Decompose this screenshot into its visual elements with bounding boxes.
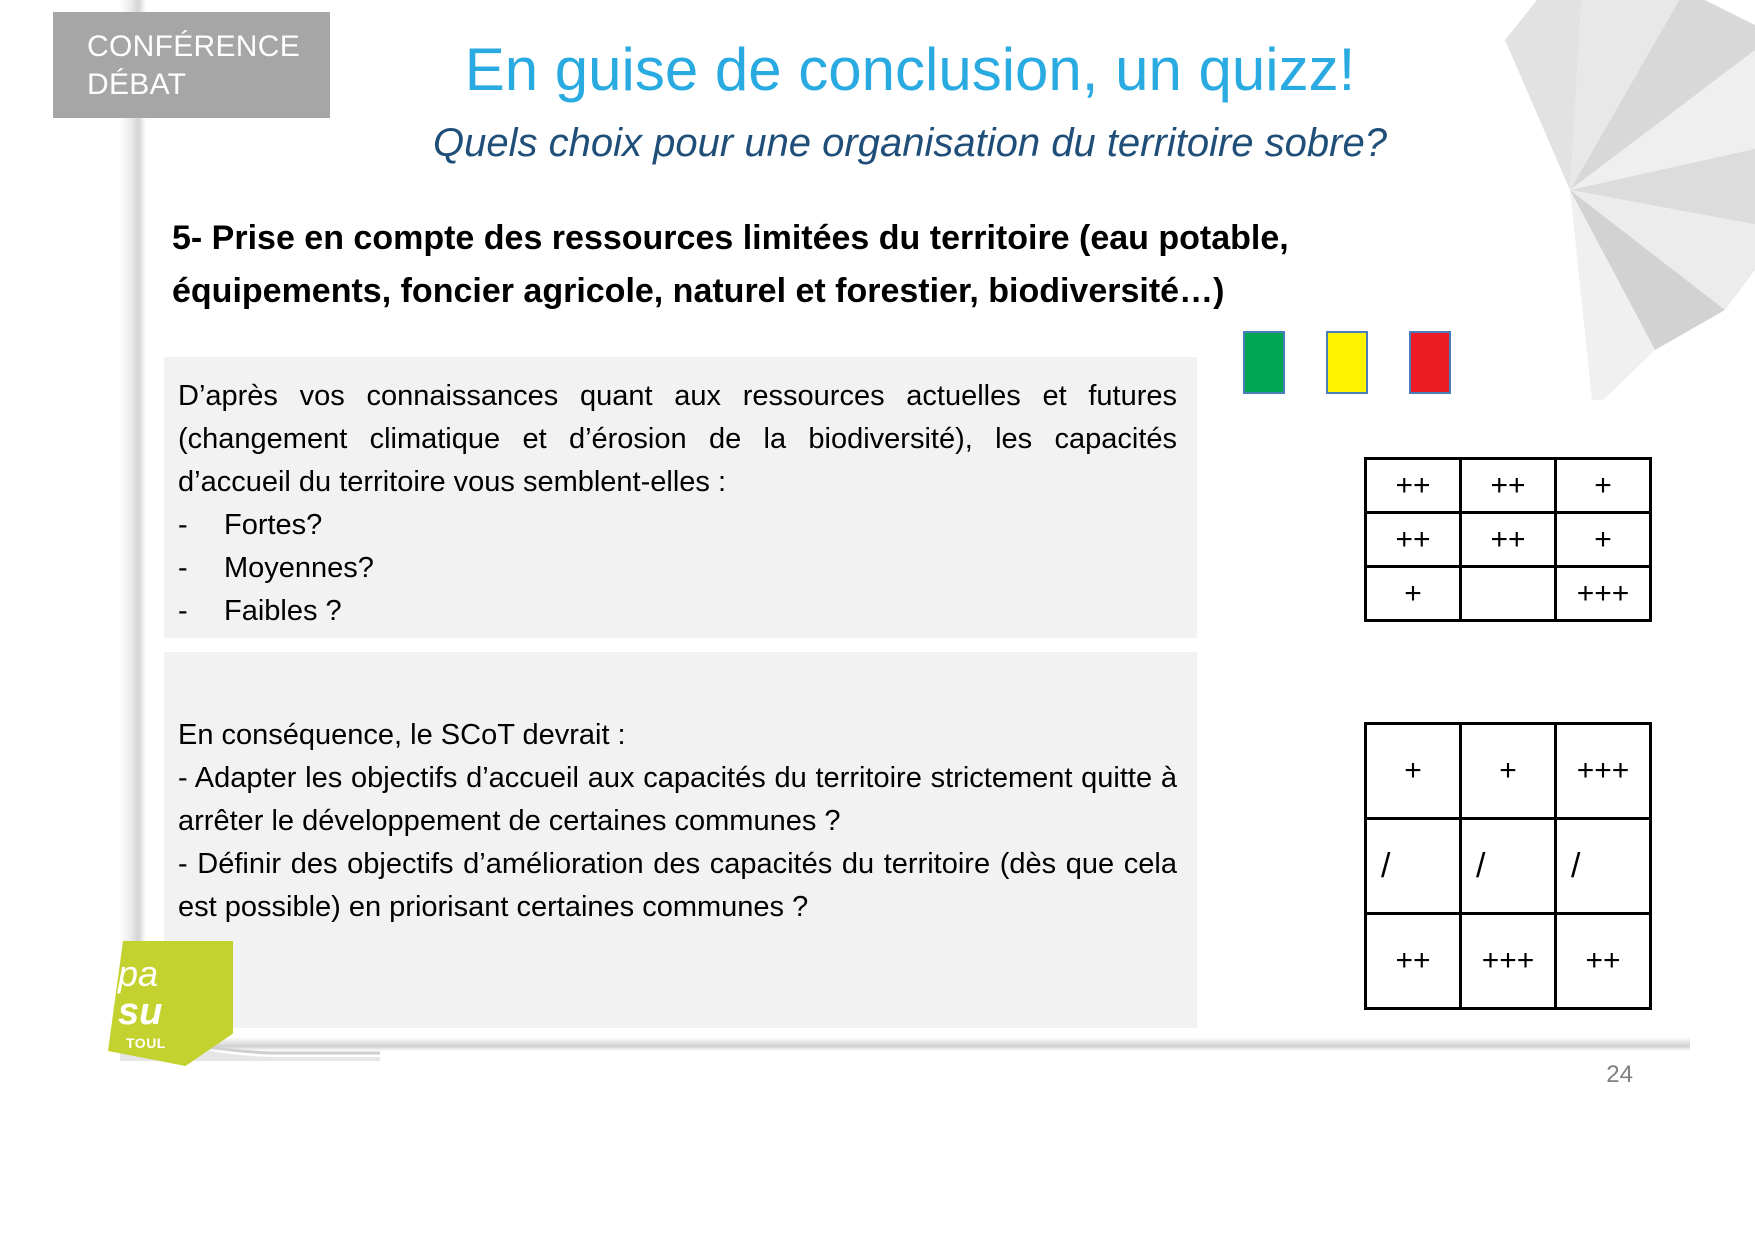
table-cell: +: [1366, 724, 1461, 819]
table-cell: ++: [1556, 914, 1651, 1009]
list-item: - Faibles ?: [178, 590, 1177, 633]
question-heading: 5- Prise en compte des ressources limité…: [172, 212, 1502, 317]
vote-card-legend: [1243, 331, 1473, 395]
question-heading-line-1: 5- Prise en compte des ressources limité…: [172, 212, 1502, 265]
red-card-icon: [1409, 331, 1451, 394]
table-cell: +: [1461, 724, 1556, 819]
table-row: + + +++: [1366, 724, 1651, 819]
badge-line-2: DÉBAT: [87, 66, 330, 104]
table-cell: ++: [1461, 513, 1556, 567]
table-cell: /: [1556, 819, 1651, 914]
table-cell: [1461, 567, 1556, 621]
table-cell: +: [1556, 459, 1651, 513]
bullet-dash: -: [178, 504, 224, 547]
table-cell: ++: [1366, 459, 1461, 513]
page-curl-left-edge: [120, 0, 146, 1060]
table-row: + +++: [1366, 567, 1651, 621]
logo-line-3: TOUL: [126, 1035, 166, 1051]
page-subtitle: Quels choix pour une organisation du ter…: [330, 120, 1490, 166]
bullet-dash: -: [178, 547, 224, 590]
bullet-dash: -: [178, 590, 224, 633]
conference-badge: CONFÉRENCE DÉBAT: [53, 12, 330, 118]
table-cell: ++: [1366, 914, 1461, 1009]
table-cell: +: [1366, 567, 1461, 621]
organisation-logo: pa su TOUL: [108, 941, 233, 1066]
table-row: / / /: [1366, 819, 1651, 914]
table-cell: +++: [1461, 914, 1556, 1009]
list-item: - Moyennes?: [178, 547, 1177, 590]
list-item: - Fortes?: [178, 504, 1177, 547]
bullet-text: Faibles ?: [224, 590, 342, 633]
page-title: En guise de conclusion, un quizz!: [380, 38, 1440, 101]
logo-line-1: pa: [118, 953, 158, 995]
table-cell: ++: [1366, 513, 1461, 567]
table-cell: +++: [1556, 724, 1651, 819]
table-cell: +++: [1556, 567, 1651, 621]
page-number: 24: [1606, 1061, 1633, 1089]
block1-paragraph: D’après vos connaissances quant aux ress…: [178, 375, 1177, 504]
table-cell: /: [1366, 819, 1461, 914]
table-row: ++ ++ +: [1366, 513, 1651, 567]
block2-intro: En conséquence, le SCoT devrait :: [178, 714, 1177, 757]
answers-table-1: ++ ++ + ++ ++ + + +++: [1364, 457, 1652, 622]
yellow-card-icon: [1326, 331, 1368, 394]
question-block-1: D’après vos connaissances quant aux ress…: [164, 357, 1197, 638]
slide: CONFÉRENCE DÉBAT En guise de conclusion,…: [0, 0, 1755, 1241]
block2-paragraph-1: - Adapter les objectifs d’accueil aux ca…: [178, 757, 1177, 843]
table-row: ++ ++ +: [1366, 459, 1651, 513]
logo-line-2: su: [118, 991, 162, 1034]
table-cell: ++: [1461, 459, 1556, 513]
green-card-icon: [1243, 331, 1285, 394]
answers-table-2: + + +++ / / / ++ +++ ++: [1364, 722, 1652, 1010]
block2-paragraph-2: - Définir des objectifs d’amélioration d…: [178, 843, 1177, 929]
badge-line-1: CONFÉRENCE: [87, 28, 330, 66]
table-row: ++ +++ ++: [1366, 914, 1651, 1009]
table-cell: +: [1556, 513, 1651, 567]
bullet-text: Moyennes?: [224, 547, 374, 590]
table-cell: /: [1461, 819, 1556, 914]
question-heading-line-2: équipements, foncier agricole, naturel e…: [172, 265, 1502, 318]
question-block-2: En conséquence, le SCoT devrait : - Adap…: [164, 652, 1197, 1028]
bullet-text: Fortes?: [224, 504, 322, 547]
